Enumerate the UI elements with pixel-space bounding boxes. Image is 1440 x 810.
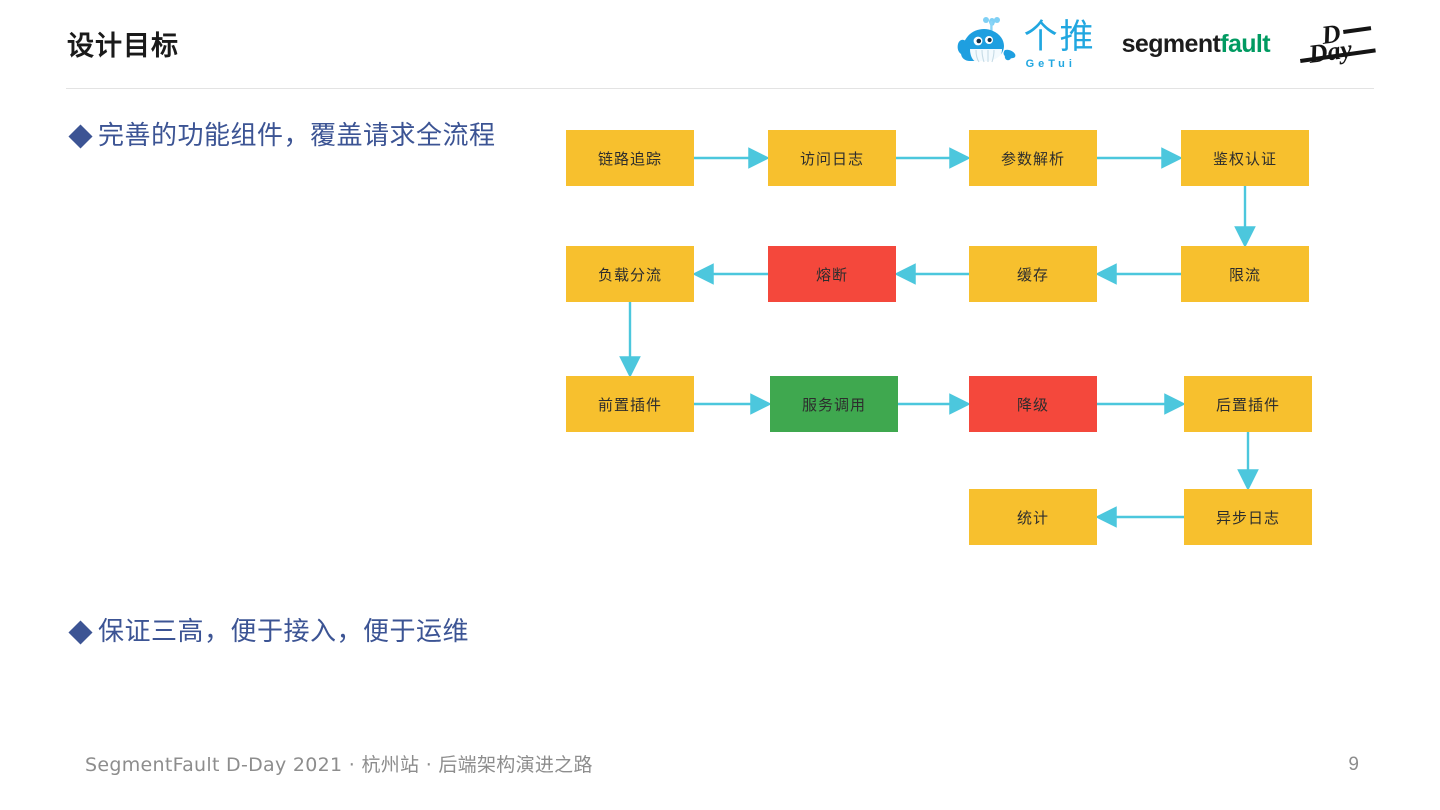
flow-node-n2[interactable]: 访问日志 bbox=[768, 130, 896, 186]
flow-node-n12[interactable]: 后置插件 bbox=[1184, 376, 1312, 432]
flow-node-label: 访问日志 bbox=[800, 148, 864, 169]
flow-node-n10[interactable]: 服务调用 bbox=[770, 376, 898, 432]
flow-node-n8[interactable]: 负载分流 bbox=[566, 246, 694, 302]
flow-node-n1[interactable]: 链路追踪 bbox=[566, 130, 694, 186]
flow-node-n9[interactable]: 前置插件 bbox=[566, 376, 694, 432]
flow-node-n14[interactable]: 统计 bbox=[969, 489, 1097, 545]
flow-node-label: 鉴权认证 bbox=[1213, 148, 1277, 169]
flow-node-n4[interactable]: 鉴权认证 bbox=[1181, 130, 1309, 186]
slide-footer: SegmentFault D-Day 2021 · 杭州站 · 后端架构演进之路… bbox=[0, 740, 1440, 810]
flow-node-n5[interactable]: 限流 bbox=[1181, 246, 1309, 302]
flow-node-label: 异步日志 bbox=[1216, 507, 1280, 528]
page-number: 9 bbox=[1348, 752, 1359, 778]
flow-node-label: 缓存 bbox=[1017, 264, 1049, 285]
flow-node-label: 限流 bbox=[1229, 264, 1261, 285]
flow-node-label: 前置插件 bbox=[598, 394, 662, 415]
flow-diagram: 链路追踪访问日志参数解析鉴权认证限流缓存熔断负载分流前置插件服务调用降级后置插件… bbox=[0, 0, 1440, 810]
flow-node-label: 链路追踪 bbox=[598, 148, 662, 169]
flow-node-n6[interactable]: 缓存 bbox=[969, 246, 1097, 302]
flow-node-label: 熔断 bbox=[816, 264, 848, 285]
flow-node-n3[interactable]: 参数解析 bbox=[969, 130, 1097, 186]
flow-node-label: 统计 bbox=[1017, 507, 1049, 528]
flow-node-label: 负载分流 bbox=[598, 264, 662, 285]
flow-node-n7[interactable]: 熔断 bbox=[768, 246, 896, 302]
slide: 设计目标 bbox=[0, 0, 1440, 810]
flow-node-n11[interactable]: 降级 bbox=[969, 376, 1097, 432]
flow-node-label: 服务调用 bbox=[802, 394, 866, 415]
flow-node-label: 参数解析 bbox=[1001, 148, 1065, 169]
footer-text: SegmentFault D-Day 2021 · 杭州站 · 后端架构演进之路 bbox=[85, 752, 593, 778]
flow-node-n13[interactable]: 异步日志 bbox=[1184, 489, 1312, 545]
flow-node-label: 后置插件 bbox=[1216, 394, 1280, 415]
flow-node-label: 降级 bbox=[1017, 394, 1049, 415]
